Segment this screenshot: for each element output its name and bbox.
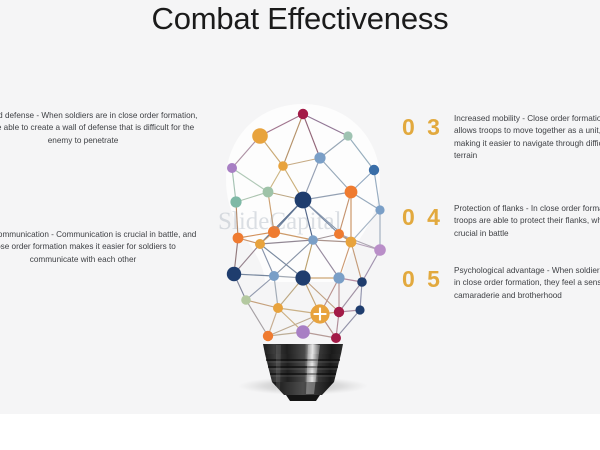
lightbulb-network-icon: [208, 92, 398, 407]
list-item[interactable]: 0 4 Protection of flanks - In close orde…: [402, 203, 600, 240]
list-item-number: 0 5: [402, 268, 443, 291]
list-item-text: Better communication - Communication is …: [0, 229, 198, 266]
page-title: Combat Effectiveness: [0, 1, 600, 37]
list-item[interactable]: 0 5 Psychological advantage - When soldi…: [402, 265, 600, 302]
list-item-text: Psychological advantage - When soldiers …: [454, 265, 600, 302]
list-item-number: 0 4: [402, 206, 443, 229]
list-item-number: 0 3: [402, 116, 443, 139]
list-item[interactable]: 0 3 Increased mobility - Close order for…: [402, 113, 600, 163]
list-item[interactable]: Improved defense - When soldiers are in …: [0, 110, 198, 147]
slide-canvas: Combat Effectiveness Improved defense - …: [0, 0, 600, 414]
list-item-text: Increased mobility - Close order formati…: [454, 113, 600, 163]
list-item-text: Protection of flanks - In close order fo…: [454, 203, 600, 240]
page-background: [0, 414, 600, 450]
list-item[interactable]: Better communication - Communication is …: [0, 229, 198, 266]
list-item-text: Improved defense - When soldiers are in …: [0, 110, 198, 147]
